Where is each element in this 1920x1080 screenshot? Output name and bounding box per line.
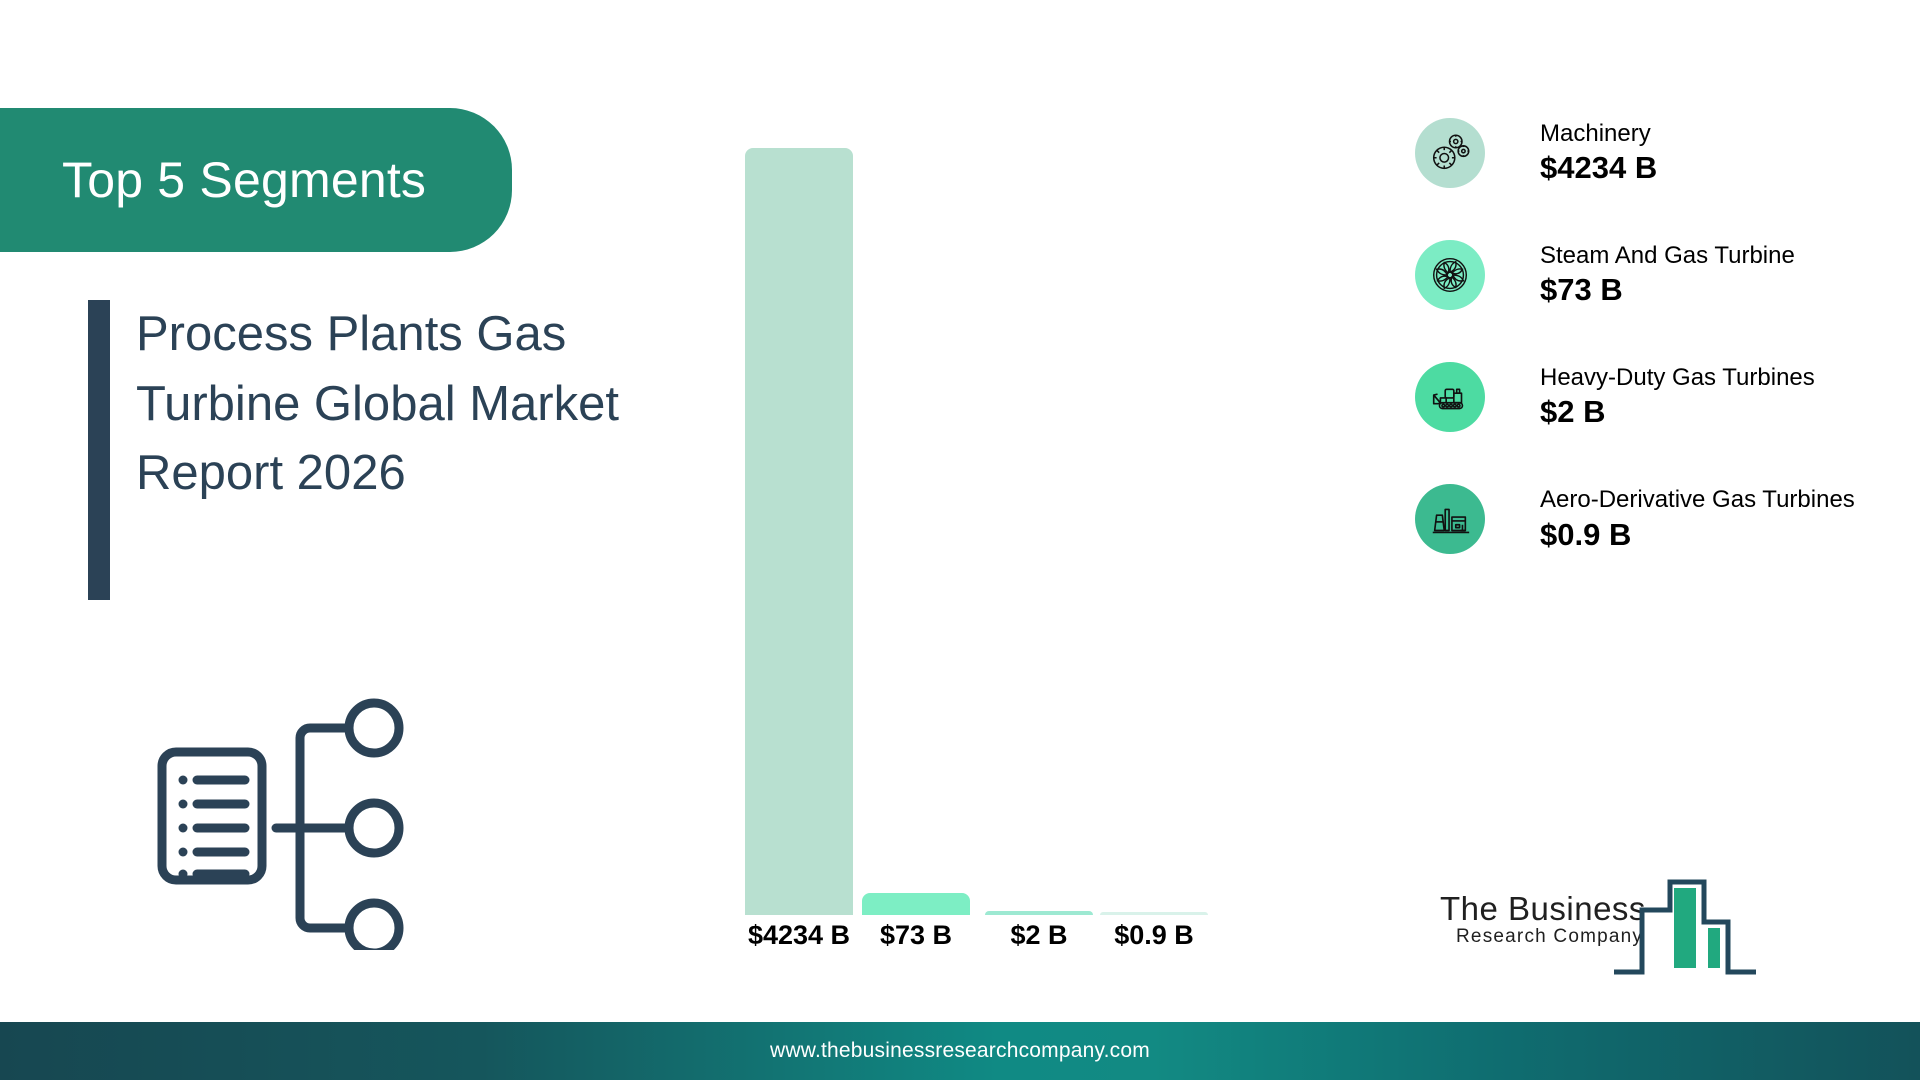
top-segments-badge: Top 5 Segments <box>0 108 512 252</box>
legend-text: Machinery$4234 B <box>1540 118 1657 188</box>
turbine-fan-icon <box>1415 240 1485 310</box>
bar-chart: $4234 B$73 B$2 B$0.9 B <box>720 120 1260 980</box>
footer-bar: www.thebusinessresearchcompany.com <box>0 1022 1920 1080</box>
report-title-block: Process Plants Gas Turbine Global Market… <box>88 300 728 600</box>
power-plant-icon <box>1415 484 1485 554</box>
legend-item-value: $4234 B <box>1540 149 1657 188</box>
legend-item-3[interactable]: Heavy-Duty Gas Turbines$2 B <box>1415 362 1885 432</box>
document-tree-icon <box>150 680 430 950</box>
bar-2[interactable] <box>862 120 970 915</box>
legend-item-label: Machinery <box>1540 120 1657 148</box>
bar-4[interactable] <box>1100 120 1208 915</box>
legend-text: Steam And Gas Turbine$73 B <box>1540 240 1795 310</box>
legend-item-label: Steam And Gas Turbine <box>1540 242 1795 270</box>
title-accent-bar <box>88 300 110 600</box>
legend-item-value: $0.9 B <box>1540 516 1855 555</box>
segment-legend: Machinery$4234 BSteam And Gas Turbine$73… <box>1415 118 1885 606</box>
bar-3[interactable] <box>985 120 1093 915</box>
legend-text: Heavy-Duty Gas Turbines$2 B <box>1540 362 1815 432</box>
bar-rect <box>985 911 1093 915</box>
legend-item-label: Heavy-Duty Gas Turbines <box>1540 364 1815 392</box>
legend-item-value: $2 B <box>1540 393 1815 432</box>
bar-chart-plot-area <box>720 120 1260 915</box>
bar-rect <box>1100 912 1208 915</box>
badge-label: Top 5 Segments <box>0 155 426 205</box>
gears-icon <box>1415 118 1485 188</box>
legend-item-1[interactable]: Machinery$4234 B <box>1415 118 1885 188</box>
bar-rect <box>862 893 970 915</box>
bar-value-label: $73 B <box>846 920 986 951</box>
infographic-canvas: Top 5 Segments Process Plants Gas Turbin… <box>0 0 1920 1080</box>
legend-item-2[interactable]: Steam And Gas Turbine$73 B <box>1415 240 1885 310</box>
footer-url[interactable]: www.thebusinessresearchcompany.com <box>770 1039 1150 1063</box>
bar-value-label: $0.9 B <box>1084 920 1224 951</box>
bar-rect <box>745 148 853 915</box>
bar-chart-logo-icon <box>1608 872 1760 980</box>
legend-text: Aero-Derivative Gas Turbines$0.9 B <box>1540 484 1855 554</box>
bar-chart-x-labels: $4234 B$73 B$2 B$0.9 B <box>720 920 1260 980</box>
page-title: Process Plants Gas Turbine Global Market… <box>110 300 728 600</box>
bulldozer-icon <box>1415 362 1485 432</box>
legend-item-4[interactable]: Aero-Derivative Gas Turbines$0.9 B <box>1415 484 1885 554</box>
legend-item-label: Aero-Derivative Gas Turbines <box>1540 486 1855 514</box>
company-logo: The Business Research Company <box>1440 872 1760 982</box>
bar-1[interactable] <box>745 120 853 915</box>
legend-item-value: $73 B <box>1540 271 1795 310</box>
